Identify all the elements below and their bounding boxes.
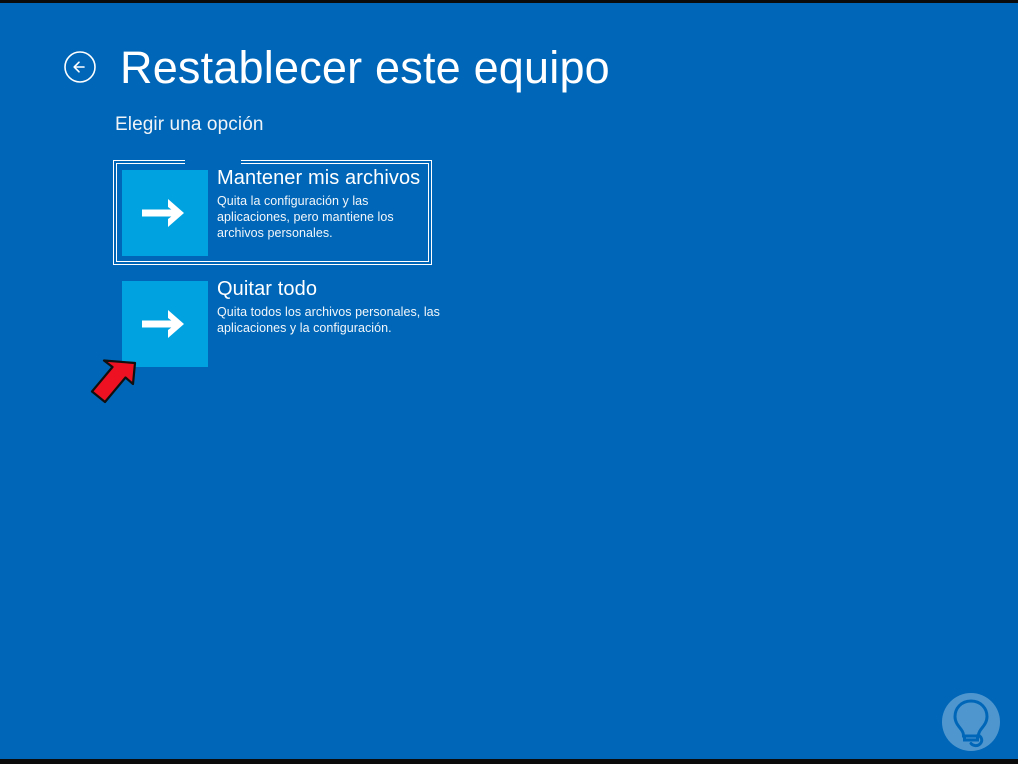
focus-ring-notch — [185, 159, 241, 164]
option-remove-everything[interactable]: Quitar todo Quita todos los archivos per… — [113, 271, 432, 376]
back-arrow-icon — [62, 49, 98, 85]
option-icon-tile — [122, 170, 208, 256]
option-text: Mantener mis archivos Quita la configura… — [217, 166, 429, 241]
option-description: Quita la configuración y las aplicacione… — [217, 193, 429, 241]
option-description: Quita todos los archivos personales, las… — [217, 304, 443, 336]
option-keep-my-files[interactable]: Mantener mis archivos Quita la configura… — [113, 160, 432, 265]
back-button[interactable] — [58, 45, 102, 89]
recovery-screen: Restablecer este equipo Elegir una opció… — [0, 3, 1018, 759]
subtitle: Elegir una opción — [115, 114, 264, 136]
arrow-right-icon — [138, 193, 192, 233]
lightbulb-logo — [940, 691, 1002, 753]
option-text: Quitar todo Quita todos los archivos per… — [217, 277, 429, 336]
page-title: Restablecer este equipo — [120, 33, 610, 103]
option-heading: Quitar todo — [217, 277, 429, 301]
header: Restablecer este equipo — [0, 33, 1018, 103]
option-icon-tile — [122, 281, 208, 367]
arrow-right-icon — [138, 304, 192, 344]
option-heading: Mantener mis archivos — [217, 166, 429, 190]
